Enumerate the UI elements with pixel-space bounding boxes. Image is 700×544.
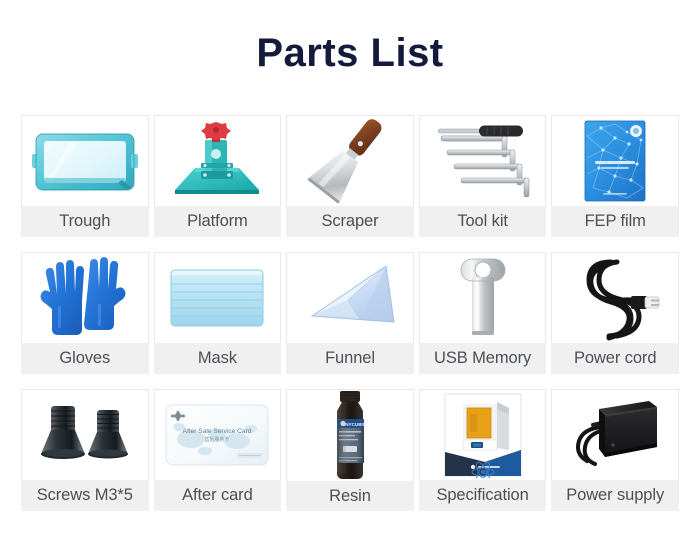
part-card-power-supply[interactable]: Power supply: [551, 389, 679, 511]
paper-funnel-icon: [298, 260, 402, 336]
part-label-funnel: Funnel: [286, 343, 414, 374]
part-card-platform[interactable]: Platform: [154, 115, 282, 237]
service-card-subtitle: 售后服务卡: [205, 436, 230, 443]
part-image-resin: ANYCUBIC: [286, 389, 414, 481]
service-card-title: After Sale Service Card: [183, 428, 252, 435]
part-card-after-card[interactable]: After Sale Service Card 售后服务卡 After card: [154, 389, 282, 511]
part-label-resin: Resin: [286, 481, 414, 512]
part-image-scraper: [286, 115, 414, 206]
page-title: Parts List: [0, 0, 700, 78]
part-label-screws: Screws M3*5: [21, 480, 149, 511]
part-label-fep-film: FEP film: [551, 206, 679, 237]
scraper-icon: [295, 119, 405, 203]
gloves-icon: [36, 256, 134, 340]
part-image-after-card: After Sale Service Card 售后服务卡: [154, 389, 282, 480]
resin-vat-icon: [30, 122, 140, 200]
part-image-platform: [154, 115, 282, 206]
part-card-tool-kit[interactable]: Tool kit: [419, 115, 547, 237]
part-label-power-supply: Power supply: [551, 480, 679, 511]
part-image-trough: [21, 115, 149, 206]
part-image-funnel: [286, 252, 414, 343]
usb-drive-icon: [460, 255, 506, 341]
part-image-power-supply: [551, 389, 679, 480]
power-adapter-icon: [561, 395, 669, 475]
part-image-specification: [419, 389, 547, 480]
part-image-power-cord: [551, 252, 679, 343]
part-card-power-cord[interactable]: Power cord: [551, 252, 679, 374]
part-label-power-cord: Power cord: [551, 343, 679, 374]
part-label-scraper: Scraper: [286, 206, 414, 237]
part-card-gloves[interactable]: Gloves: [21, 252, 149, 374]
part-card-funnel[interactable]: Funnel: [286, 252, 414, 374]
service-card-icon: After Sale Service Card 售后服务卡: [161, 399, 273, 471]
part-card-specification[interactable]: Specification: [419, 389, 547, 511]
part-card-trough[interactable]: Trough: [21, 115, 149, 237]
part-card-resin[interactable]: ANYCUBIC Resin: [286, 389, 414, 511]
part-image-screws: [21, 389, 149, 480]
power-cord-icon: [567, 254, 663, 342]
part-label-gloves: Gloves: [21, 343, 149, 374]
part-label-trough: Trough: [21, 206, 149, 237]
part-card-usb-memory[interactable]: USB Memory: [419, 252, 547, 374]
part-label-mask: Mask: [154, 343, 282, 374]
parts-list-page: Parts List: [0, 0, 700, 544]
part-card-scraper[interactable]: Scraper: [286, 115, 414, 237]
resin-bottle-icon: ANYCUBIC: [321, 389, 379, 480]
part-label-usb-memory: USB Memory: [419, 343, 547, 374]
part-card-mask[interactable]: Mask: [154, 252, 282, 374]
part-label-after-card: After card: [154, 480, 282, 511]
tool-kit-icon: [427, 120, 539, 202]
part-label-tool-kit: Tool kit: [419, 206, 547, 237]
face-mask-icon: [161, 265, 273, 331]
part-label-specification: Specification: [419, 480, 547, 511]
manual-booklet-icon: [441, 392, 525, 478]
part-image-gloves: [21, 252, 149, 343]
part-card-fep-film[interactable]: FEP film: [551, 115, 679, 237]
part-image-fep-film: [551, 115, 679, 206]
part-image-usb-memory: [419, 252, 547, 343]
part-image-mask: [154, 252, 282, 343]
build-platform-icon: [165, 120, 269, 202]
part-image-tool-kit: [419, 115, 547, 206]
part-label-platform: Platform: [154, 206, 282, 237]
screws-icon: [35, 402, 135, 468]
fep-film-pack-icon: [581, 118, 649, 204]
part-card-screws[interactable]: Screws M3*5: [21, 389, 149, 511]
parts-grid: Trough: [21, 115, 679, 511]
